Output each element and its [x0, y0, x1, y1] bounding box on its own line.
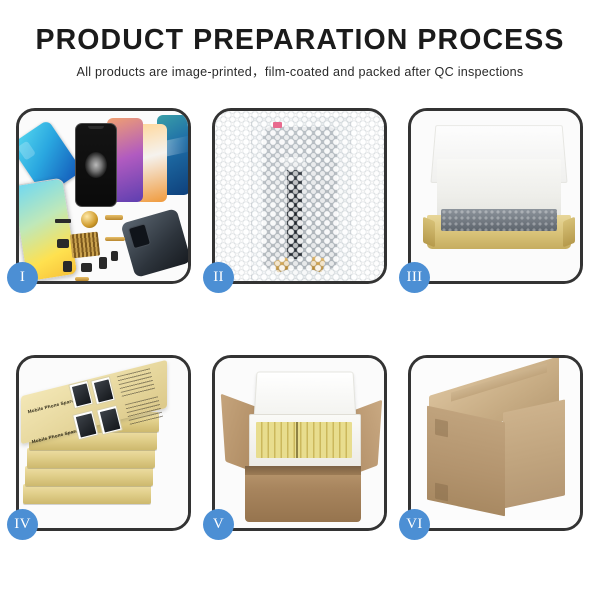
speaker-part [81, 211, 98, 228]
chip-part-6 [111, 251, 118, 261]
carton-body [245, 466, 361, 522]
step-panel-6: VI [408, 355, 583, 531]
phone-back-housing [120, 208, 188, 278]
step-panel-1: I [16, 108, 191, 284]
step-image-4: Mobile Phone Spare Parts Mobile Phone Sp… [19, 358, 188, 528]
step-badge-4: IV [7, 509, 38, 540]
stacked-box-4 [25, 466, 153, 486]
qc-sticker [273, 122, 282, 128]
step-badge-3: III [399, 262, 430, 293]
phone-front-glass [75, 123, 117, 207]
bubble-texture-layer-2 [215, 111, 384, 281]
step-panel-4: Mobile Phone Spare Parts Mobile Phone Sp… [16, 355, 191, 531]
page-title: PRODUCT PREPARATION PROCESS [0, 26, 600, 55]
yellow-boxes-inside [256, 422, 352, 458]
step-image-1 [19, 111, 188, 281]
flex-cable-part-3 [75, 277, 89, 281]
page-subtitle: All products are image-printed，film-coat… [0, 66, 600, 79]
circuit-board-part [70, 232, 100, 259]
step-badge-5: V [203, 509, 234, 540]
box-stack: Mobile Phone Spare Parts Mobile Phone Sp… [19, 362, 188, 528]
stacked-box-5 [23, 484, 151, 504]
steps-grid: I II III [16, 108, 584, 531]
step-panel-3: III [408, 108, 583, 284]
carton-right-face [503, 399, 565, 508]
step-badge-1: I [7, 262, 38, 293]
step-badge-2: II [203, 262, 234, 293]
step-panel-2: II [212, 108, 387, 284]
step-badge-6: VI [399, 509, 430, 540]
chip-part-4 [81, 263, 92, 272]
flex-cable-part-1 [105, 215, 123, 220]
step-image-6 [411, 358, 580, 528]
step-image-2 [215, 111, 384, 281]
chip-part-1 [55, 219, 71, 223]
chip-part-2 [57, 239, 69, 248]
chip-part-5 [99, 257, 107, 269]
stacked-box-3 [27, 448, 155, 468]
step-panel-5: V [212, 355, 387, 531]
carton-handle-tab-top [435, 419, 448, 438]
header: PRODUCT PREPARATION PROCESS All products… [0, 0, 600, 78]
flex-cable-part-2 [105, 237, 125, 241]
step-image-3 [411, 111, 580, 281]
carton-handle-tab-bottom [435, 483, 448, 502]
step-image-5 [215, 358, 384, 528]
product-preparation-infographic: PRODUCT PREPARATION PROCESS All products… [0, 0, 600, 600]
chip-part-3 [63, 261, 72, 272]
packed-item-foam [441, 209, 557, 231]
